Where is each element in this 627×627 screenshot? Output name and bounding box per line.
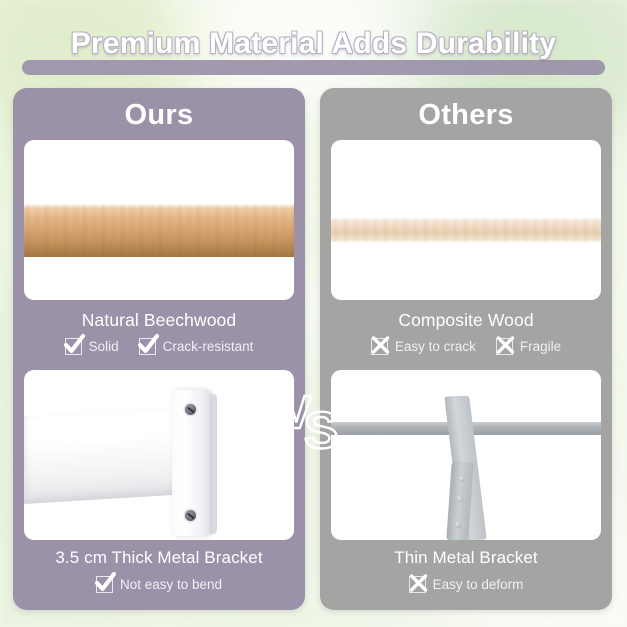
screw-icon: [185, 510, 196, 521]
feature-label: Not easy to bend: [120, 577, 222, 593]
comparison-infographic: Premium Material Adds Durability Ours Na…: [0, 0, 627, 627]
vs-icon: V S: [282, 384, 346, 460]
page-title: Premium Material Adds Durability: [0, 22, 627, 66]
composite-rod-shape: [331, 218, 601, 242]
column-others: Others Composite Wood Easy to crack: [320, 88, 612, 610]
bracket-caption-ours: 3.5 cm Thick Metal Bracket: [13, 546, 305, 570]
material-features-others: Easy to crack Fragile: [320, 338, 612, 355]
bracket-features-ours: Not easy to bend: [13, 576, 305, 593]
bracket-features-others: Easy to deform: [320, 576, 612, 593]
beechwood-rod-shape: [24, 204, 294, 257]
material-caption-ours: Natural Beechwood: [13, 308, 305, 332]
screw-icon: [185, 404, 196, 415]
column-ours: Ours Natural Beechwood Solid: [13, 88, 305, 610]
check-icon: [65, 338, 82, 355]
thin-gray-metal-bracket-photo: [331, 370, 601, 540]
feature-label: Solid: [89, 339, 119, 355]
headline-banner: Premium Material Adds Durability: [0, 22, 627, 78]
feature-item: Crack-resistant: [139, 338, 254, 355]
comparison-columns: Ours Natural Beechwood Solid: [0, 88, 627, 612]
thick-white-metal-bracket-photo: [24, 370, 294, 540]
rivet-icon: [457, 496, 463, 502]
check-icon: [139, 338, 156, 355]
cross-icon: [409, 576, 426, 593]
feature-item: Fragile: [496, 338, 561, 355]
composite-wood-rod-photo: [331, 140, 601, 300]
svg-text:S: S: [304, 402, 339, 460]
cross-icon: [371, 338, 388, 355]
rivet-icon: [459, 476, 465, 482]
feature-item: Solid: [65, 338, 119, 355]
feature-item: Not easy to bend: [96, 576, 222, 593]
feature-label: Crack-resistant: [163, 339, 254, 355]
feature-label: Fragile: [520, 339, 561, 355]
column-title-ours: Ours: [13, 96, 305, 134]
feature-item: Easy to deform: [409, 576, 524, 593]
bracket-caption-others: Thin Metal Bracket: [320, 546, 612, 570]
feature-item: Easy to crack: [371, 338, 476, 355]
column-title-others: Others: [320, 96, 612, 134]
feature-label: Easy to crack: [395, 339, 476, 355]
cross-icon: [496, 338, 513, 355]
bracket-edge-shape: [210, 394, 217, 534]
material-caption-others: Composite Wood: [320, 308, 612, 332]
beechwood-rod-photo: [24, 140, 294, 300]
rivet-icon: [455, 522, 461, 528]
bracket-rail-shape: [24, 406, 184, 504]
check-icon: [96, 576, 113, 593]
feature-label: Easy to deform: [433, 577, 524, 593]
material-features-ours: Solid Crack-resistant: [13, 338, 305, 355]
